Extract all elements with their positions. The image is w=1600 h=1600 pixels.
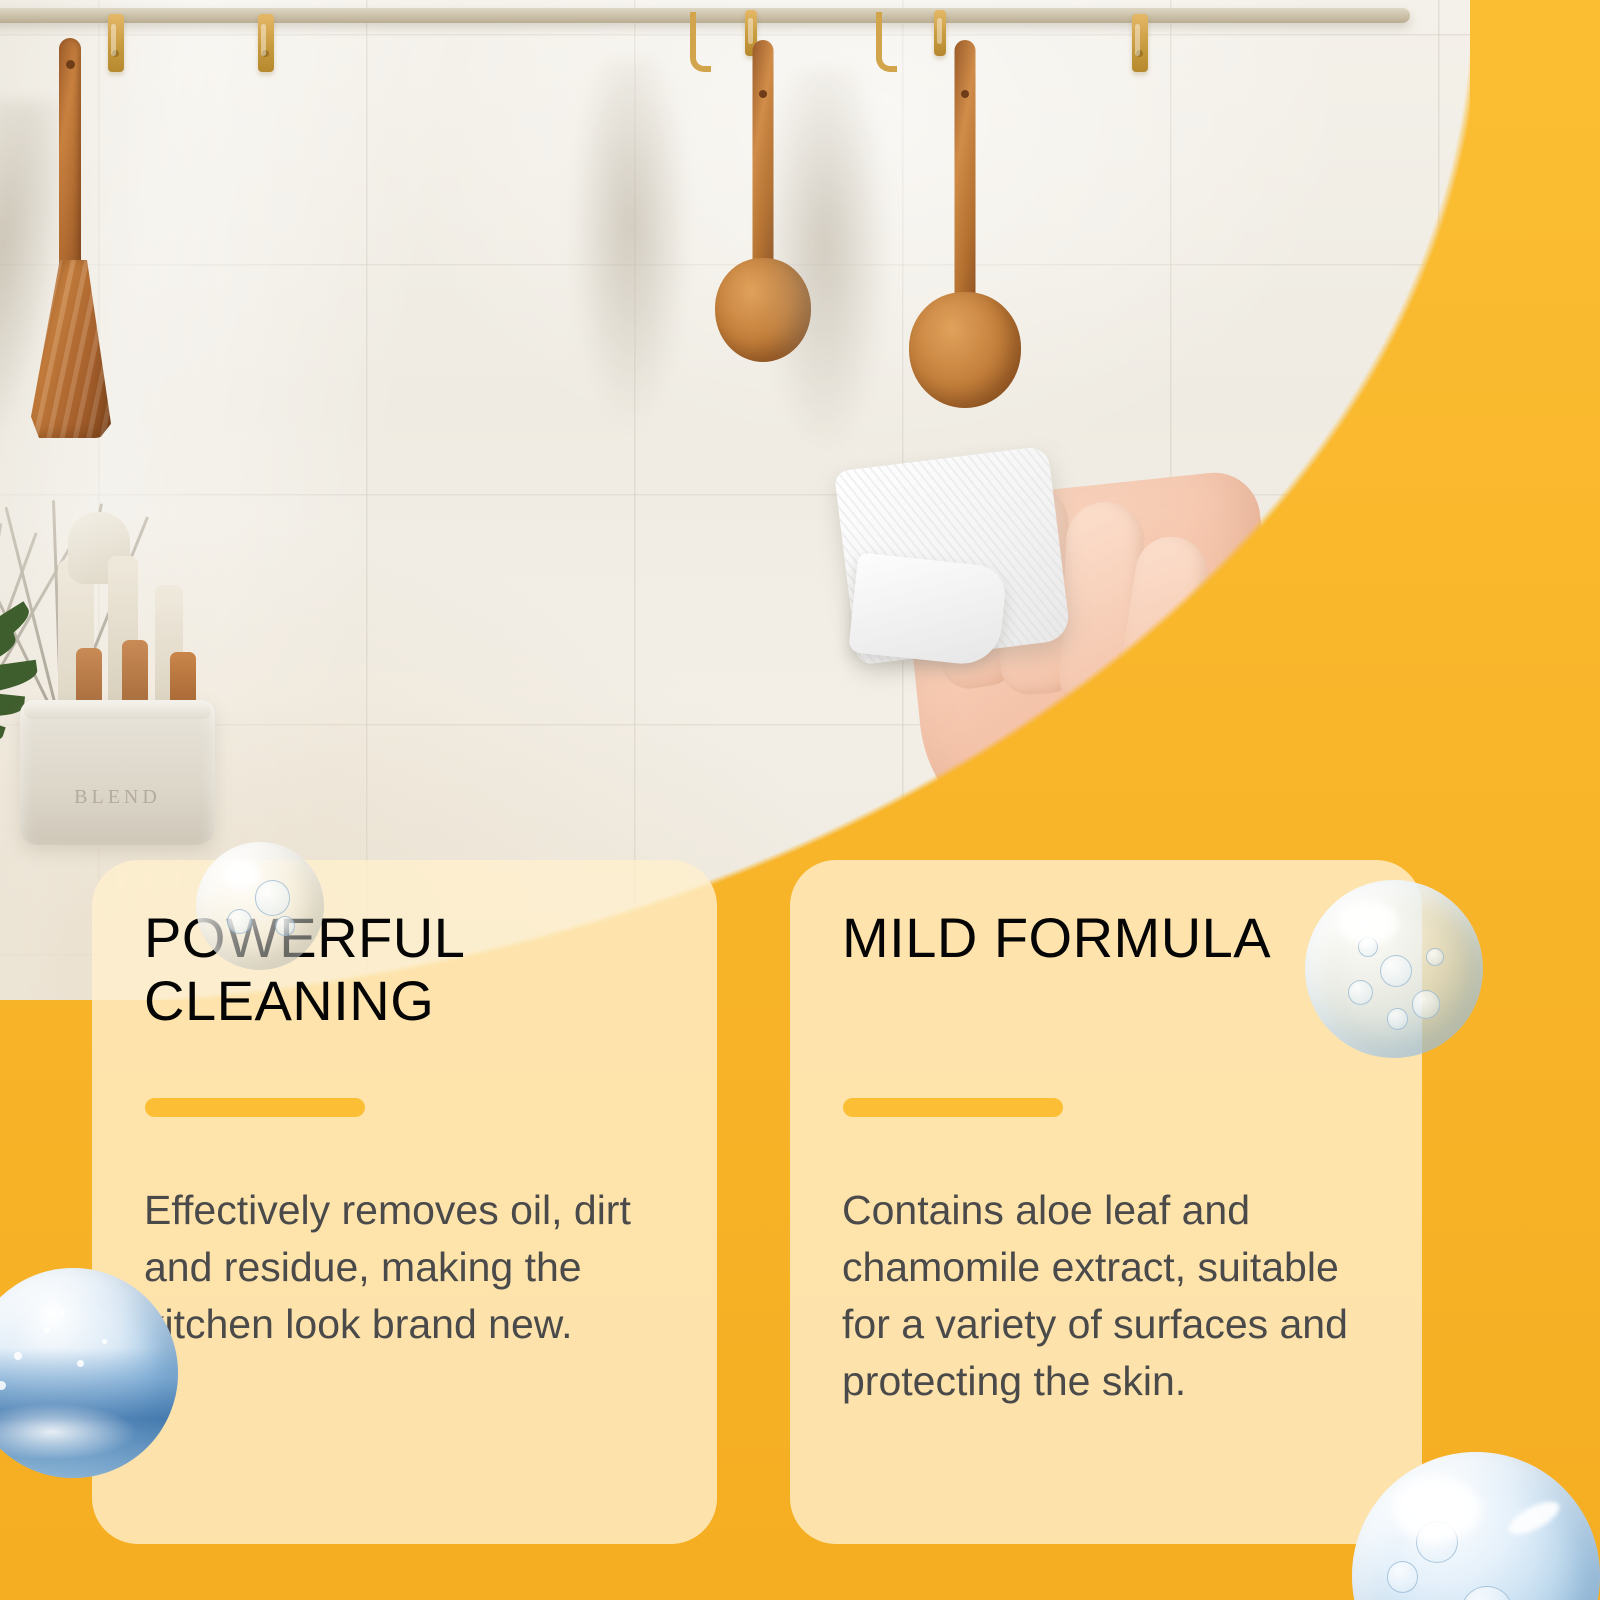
rail-hook	[876, 12, 897, 72]
hero-photo: BLEND	[0, 0, 1470, 1000]
feature-card-powerful-cleaning[interactable]: POWERFUL CLEANING Effectively removes oi…	[92, 860, 717, 1544]
ladle-shadow	[570, 60, 690, 430]
wooden-spatula	[25, 38, 111, 438]
accent-bar	[843, 1098, 1063, 1117]
card-body: Contains aloe leaf and chamomile extract…	[842, 1182, 1394, 1410]
rail-hook	[690, 12, 711, 72]
card-title: POWERFUL CLEANING	[144, 906, 687, 1032]
cleaning-wipe-fold	[848, 552, 1008, 667]
ladle-shadow	[760, 70, 890, 460]
wooden-ladle	[910, 40, 1020, 410]
card-title: MILD FORMULA	[842, 906, 1392, 969]
infographic-canvas: BLEND POWERFUL CLEANING	[0, 0, 1600, 1600]
feature-card-mild-formula[interactable]: MILD FORMULA Contains aloe leaf and cham…	[790, 860, 1422, 1544]
utensil-crock: BLEND	[20, 700, 215, 845]
hand-with-wipe	[835, 440, 1305, 860]
rail-hook	[258, 14, 274, 72]
crock-label: BLEND	[20, 786, 215, 809]
accent-bar	[145, 1098, 365, 1117]
card-body: Effectively removes oil, dirt and residu…	[144, 1182, 695, 1353]
rail-hook	[1132, 14, 1148, 72]
